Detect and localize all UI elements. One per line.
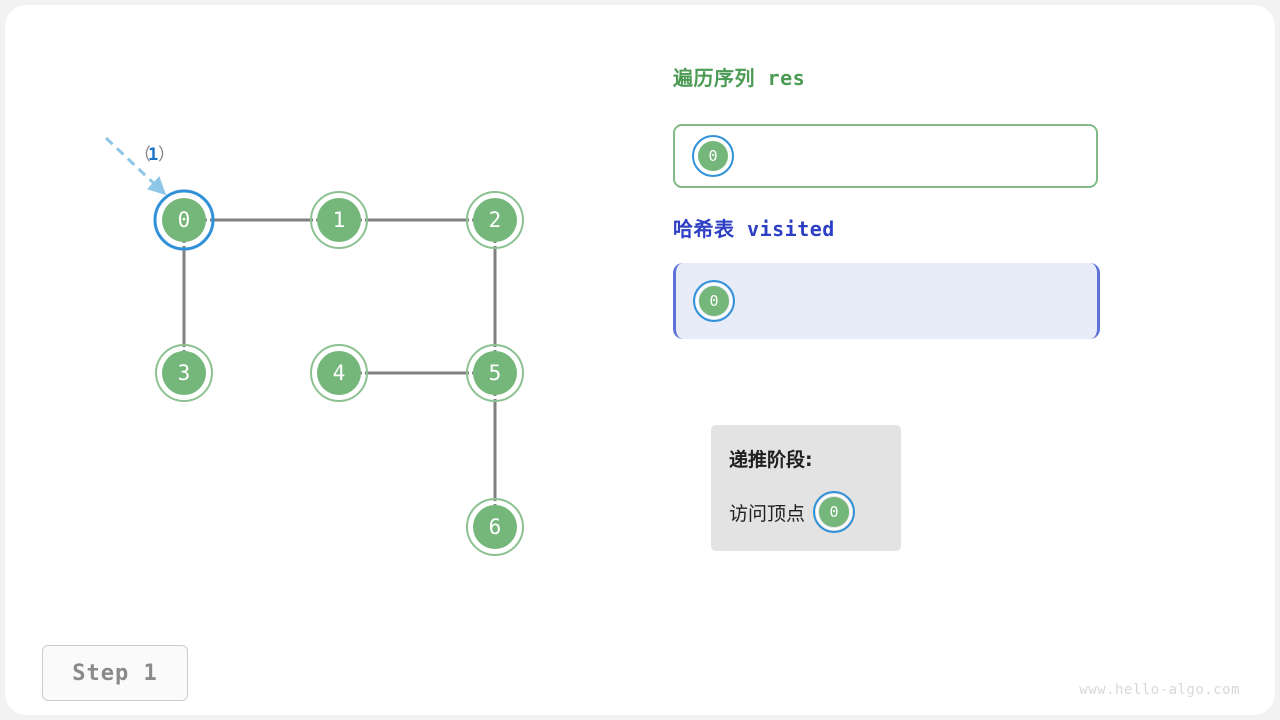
phase-title: 递推阶段:	[729, 445, 813, 472]
watermark: www.hello-algo.com	[1079, 682, 1240, 698]
graph-node-5-label: 5	[489, 361, 502, 385]
page-card: 0123456 （ 1 ） 遍历序列 res 0 哈希表	[6, 6, 1274, 714]
graph-node-0-label: 0	[178, 208, 191, 232]
phase-node-chip: 0	[813, 491, 855, 533]
res-item-0: 0	[692, 135, 734, 177]
graph-canvas: 0123456 （ 1 ）	[6, 6, 646, 646]
visited-panel-title: 哈希表 visited	[673, 213, 835, 242]
step-badge: Step 1	[42, 645, 188, 701]
graph-node-4-label: 4	[333, 361, 346, 385]
res-panel-title: 遍历序列 res	[673, 62, 1233, 91]
res-item-label: 0	[698, 141, 728, 171]
phase-node-label: 0	[819, 497, 849, 527]
graph-node-4[interactable]: 4	[311, 345, 367, 401]
graph-node-1[interactable]: 1	[311, 192, 367, 248]
visited-item-0: 0	[693, 280, 735, 322]
annotation-close-paren: ）	[158, 145, 175, 165]
graph-node-0[interactable]: 0	[155, 191, 213, 249]
phase-detail-row: 访问顶点 0	[729, 491, 855, 533]
res-array-box: 0	[673, 124, 1098, 188]
page-background: 0123456 （ 1 ） 遍历序列 res 0 哈希表	[0, 0, 1280, 720]
phase-text: 访问顶点	[729, 499, 805, 526]
graph-node-6-label: 6	[489, 515, 502, 539]
graph-node-2-label: 2	[489, 208, 502, 232]
annotation-number: 1	[148, 145, 158, 165]
graph-node-3[interactable]: 3	[156, 345, 212, 401]
graph-node-2[interactable]: 2	[467, 192, 523, 248]
graph-node-1-label: 1	[333, 208, 346, 232]
visited-item-label: 0	[699, 286, 729, 316]
graph-node-5[interactable]: 5	[467, 345, 523, 401]
graph-nodes: 0123456	[155, 191, 523, 555]
graph-node-3-label: 3	[178, 361, 191, 385]
graph-node-6[interactable]: 6	[467, 499, 523, 555]
phase-info-box: 递推阶段: 访问顶点 0	[711, 425, 901, 551]
step-annotation: （ 1 ）	[134, 145, 175, 165]
right-panel: 遍历序列 res 0 哈希表 visited 0	[673, 62, 1233, 91]
visited-hashmap-box: 0	[673, 263, 1100, 339]
